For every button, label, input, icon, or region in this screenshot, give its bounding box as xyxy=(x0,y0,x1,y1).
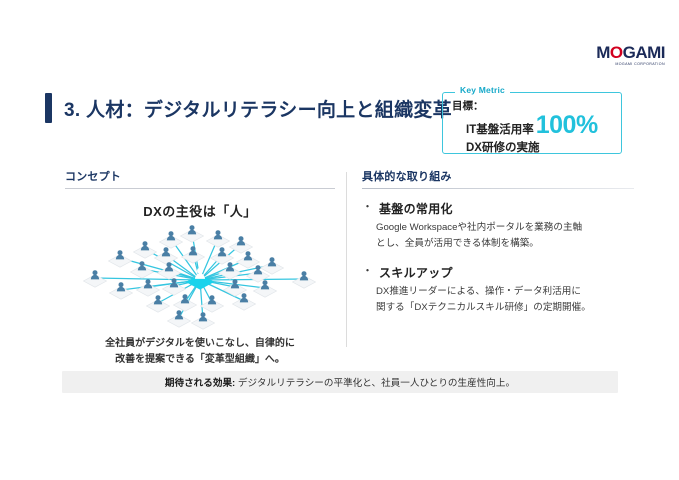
bullet-description-line1: Google Workspaceや社内ポータルを業務の主軸 xyxy=(376,220,634,236)
bullet-marker-icon: ・ xyxy=(362,200,373,214)
bullet-title: スキルアップ xyxy=(379,264,453,281)
bullet-head: ・ スキルアップ xyxy=(362,264,634,281)
concept-caption-line2: 改善を提案できる「変革型組織」へ。 xyxy=(65,352,335,368)
network-diagram-wrap xyxy=(65,224,335,330)
initiatives-heading: 具体的な取り組み xyxy=(362,168,634,188)
expected-effect-label: 期待される効果: xyxy=(165,378,235,389)
logo-letter-gami: GAMI xyxy=(623,43,665,62)
key-metric-body: 目標： IT基盤活用率 100% DX研修の実施 xyxy=(452,100,615,151)
bullet-description: Google Workspaceや社内ポータルを業務の主軸 とし、全員が活用でき… xyxy=(362,220,634,251)
key-metric-legend: Key Metric xyxy=(455,86,510,95)
column-divider xyxy=(346,172,347,347)
concept-caption: 全社員がデジタルを使いこなし、自律的に 改善を提案できる「変革型組織」へ。 xyxy=(65,336,335,367)
list-item: ・ 基盤の常用化 Google Workspaceや社内ポータルを業務の主軸 と… xyxy=(362,200,634,251)
network-diagram xyxy=(75,224,325,330)
initiatives-column: 具体的な取り組み ・ 基盤の常用化 Google Workspaceや社内ポータ… xyxy=(362,168,634,328)
concept-column: コンセプト DXの主役は「人」 xyxy=(65,168,335,367)
list-item: ・ スキルアップ DX推進リーダーによる、操作・データ利活用に 関する「DXテク… xyxy=(362,264,634,315)
key-metric-value: 100% xyxy=(536,113,598,138)
bullet-description: DX推進リーダーによる、操作・データ利活用に 関する「DXテクニカルスキル研修」… xyxy=(362,284,634,315)
key-metric-sub: DX研修の実施 xyxy=(452,139,615,155)
bullet-description-line1: DX推進リーダーによる、操作・データ利活用に xyxy=(376,284,634,300)
key-metric-main: IT基盤活用率 100% xyxy=(452,113,615,138)
title-accent-bar xyxy=(45,93,52,123)
initiatives-list: ・ 基盤の常用化 Google Workspaceや社内ポータルを業務の主軸 と… xyxy=(362,200,634,315)
page-title: 3. 人材：デジタルリテラシー向上と組織変革 xyxy=(45,93,452,123)
concept-title: DXの主役は「人」 xyxy=(65,201,335,220)
expected-effect-banner: 期待される効果: デジタルリテラシーの平準化と、社員一人ひとりの生産性向上。 xyxy=(62,371,618,393)
bullet-head: ・ 基盤の常用化 xyxy=(362,200,634,217)
concept-heading-rule xyxy=(65,188,335,189)
logo-letter-m1: M xyxy=(596,43,610,62)
logo-letter-o: O xyxy=(610,43,623,62)
bullet-title: 基盤の常用化 xyxy=(379,200,453,217)
company-logo: MOGAMI MOGAMI CORPORATION xyxy=(596,44,665,67)
key-metric-box: Key Metric 目標： IT基盤活用率 100% DX研修の実施 xyxy=(442,92,622,154)
initiatives-heading-rule xyxy=(362,188,634,189)
concept-heading: コンセプト xyxy=(65,168,335,188)
bullet-description-line2: 関する「DXテクニカルスキル研修」の定期開催。 xyxy=(376,300,634,316)
bullet-description-line2: とし、全員が活用できる体制を構築。 xyxy=(376,236,634,252)
slide-canvas: MOGAMI MOGAMI CORPORATION 3. 人材：デジタルリテラシ… xyxy=(0,0,679,480)
expected-effect-text: 期待される効果: デジタルリテラシーの平準化と、社員一人ひとりの生産性向上。 xyxy=(165,375,515,389)
logo-subtitle: MOGAMI CORPORATION xyxy=(596,63,665,67)
bullet-marker-icon: ・ xyxy=(362,264,373,278)
logo-wordmark: MOGAMI xyxy=(596,44,665,61)
title-text: 3. 人材：デジタルリテラシー向上と組織変革 xyxy=(64,95,452,122)
key-metric-label: IT基盤活用率 xyxy=(466,121,534,137)
concept-caption-line1: 全社員がデジタルを使いこなし、自律的に xyxy=(65,336,335,352)
expected-effect-body: デジタルリテラシーの平準化と、社員一人ひとりの生産性向上。 xyxy=(235,378,515,389)
